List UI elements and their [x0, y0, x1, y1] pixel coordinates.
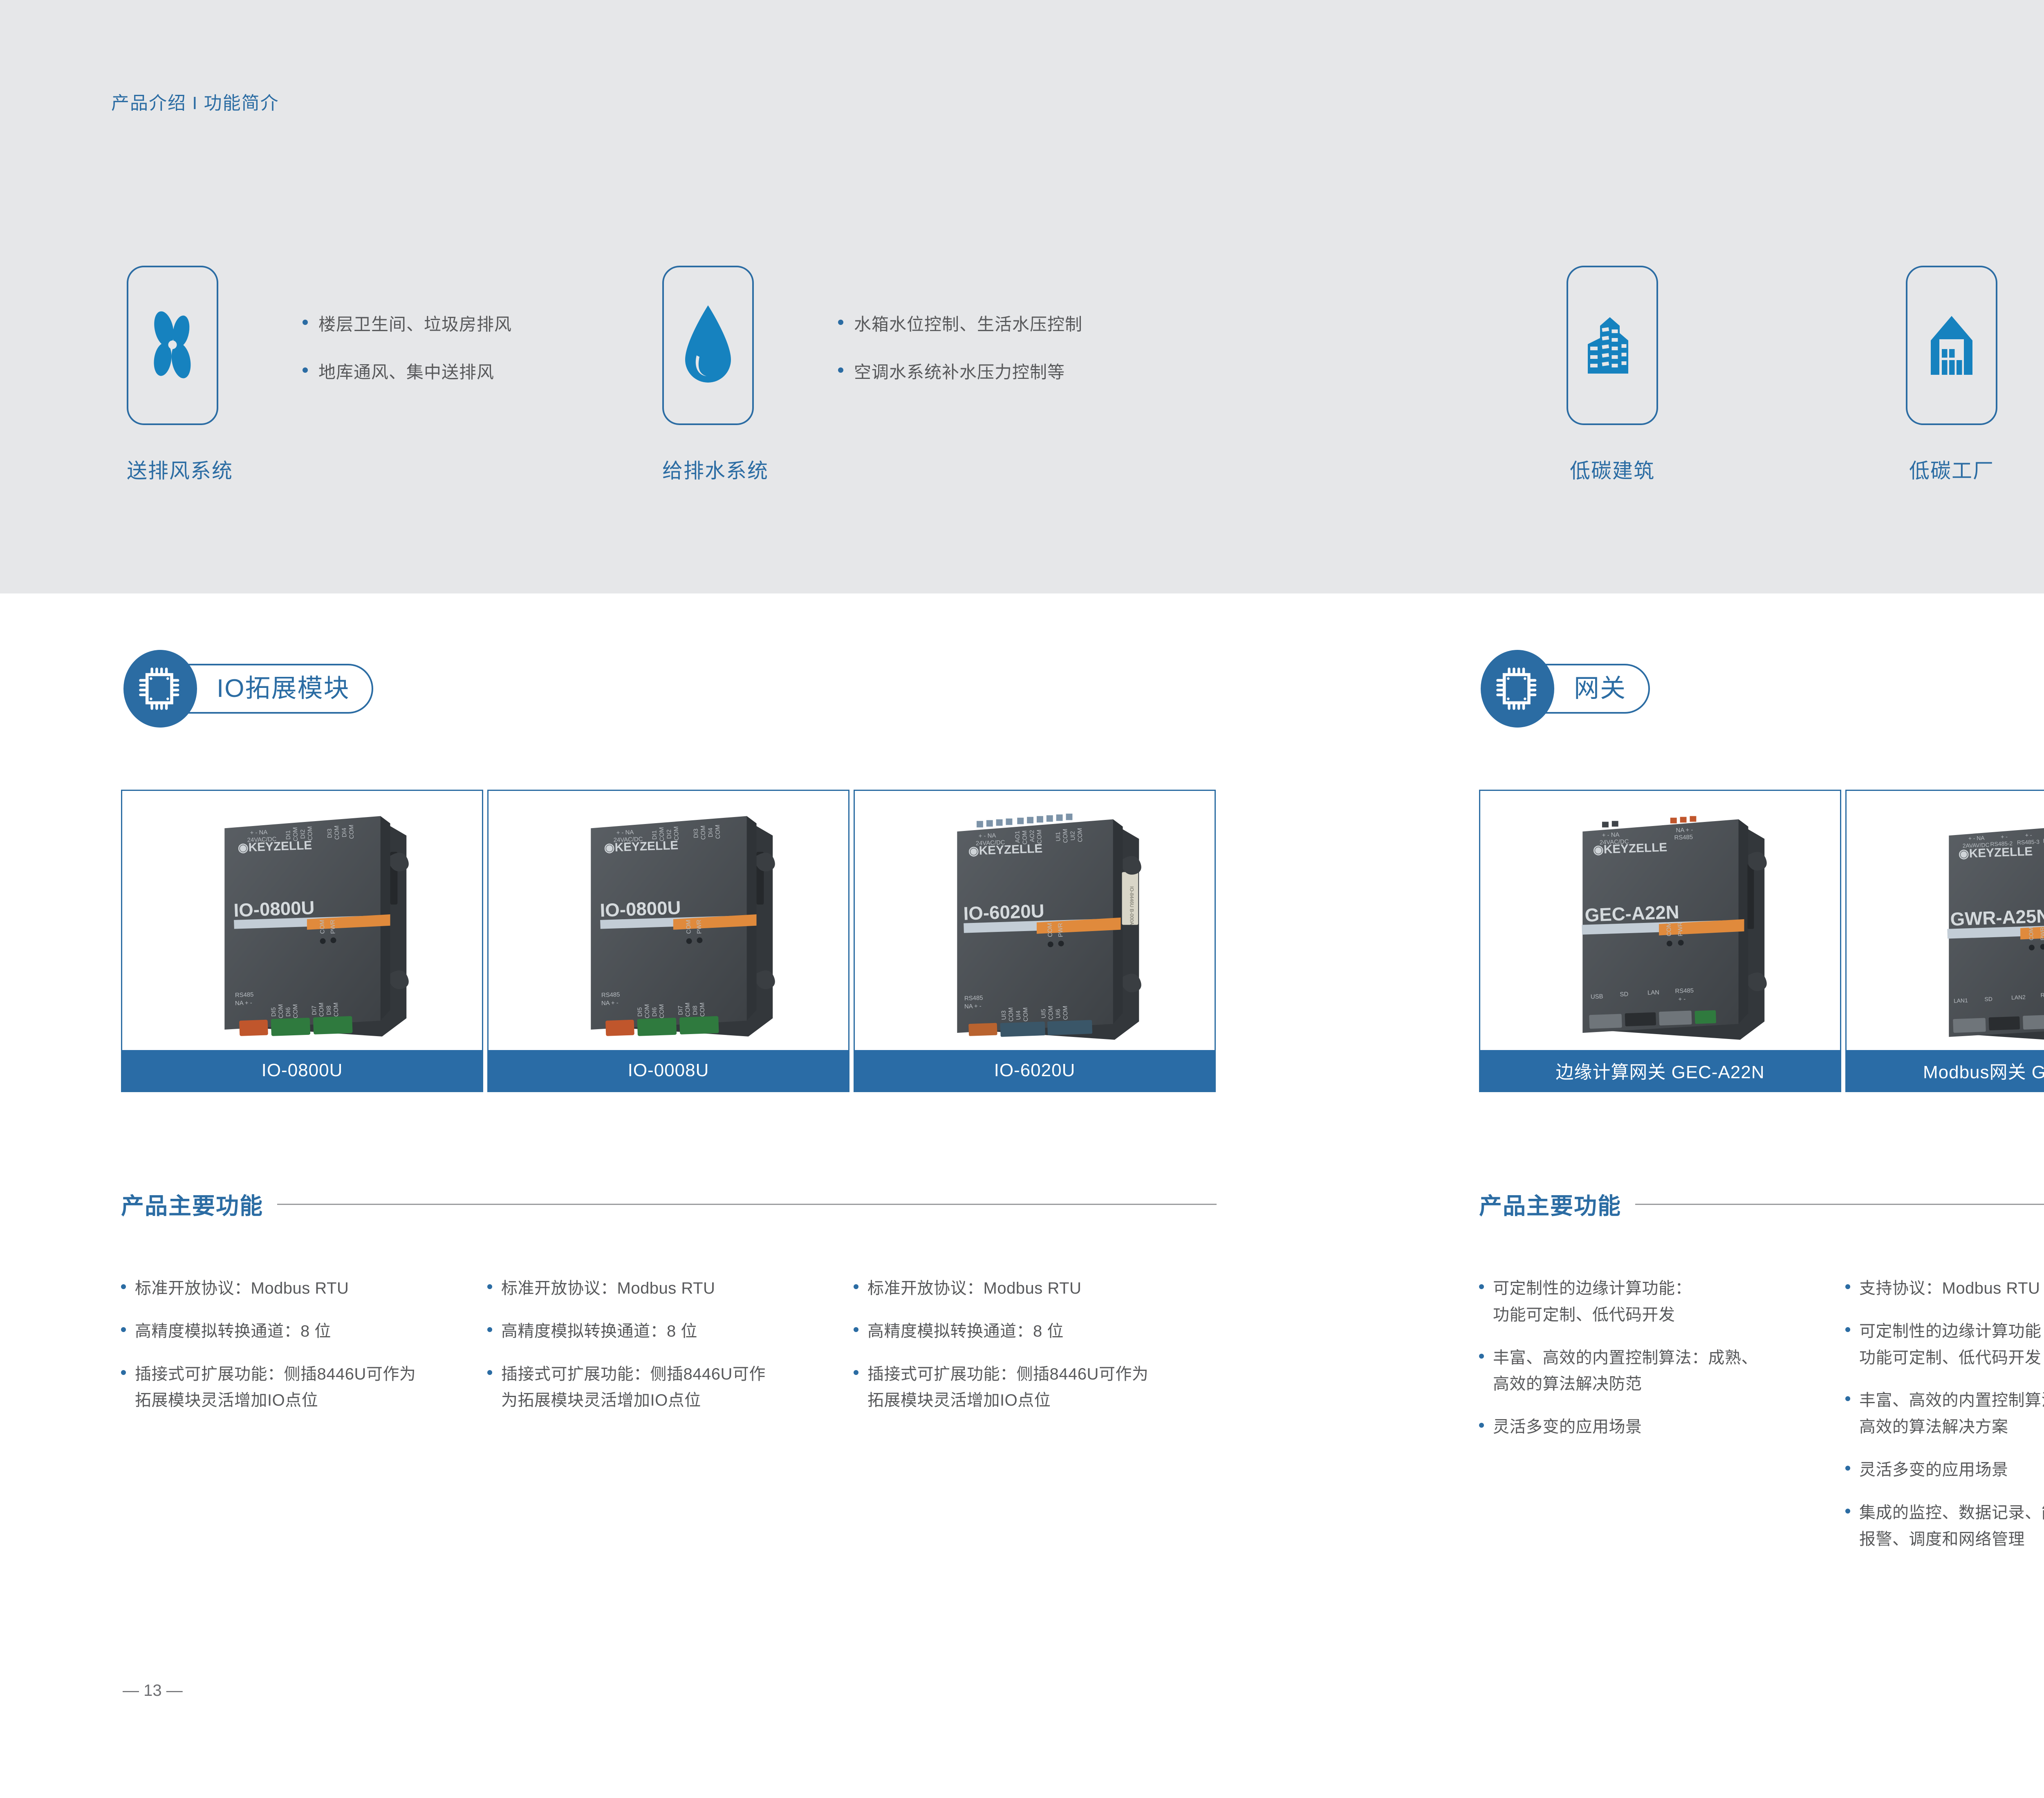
bullet-dot: [121, 1327, 126, 1332]
svg-text:COM: COM: [1036, 829, 1043, 844]
application-card-caption: 送排风系统: [127, 455, 233, 484]
svg-text:DI7: DI7: [311, 1005, 318, 1015]
svg-text:RS485: RS485: [1675, 987, 1694, 995]
svg-text:NA + -: NA + -: [1676, 827, 1693, 834]
svg-text:IO-8446U B-000A: IO-8446U B-000A: [1129, 886, 1134, 925]
feature-text: 高精度模拟转换通道：8 位: [135, 1318, 331, 1345]
top-gray-band: [0, 0, 2044, 593]
feature-text: 集成的监控、数据记录、能耗计量、 报警、调度和网络管理: [1859, 1500, 2044, 1553]
factory-icon-frame: [1906, 266, 1997, 425]
product-photo: IO-0800U ◉KEYZELLE + - NA 24VAC/DC DI1 C…: [489, 791, 848, 1091]
svg-text:DI6: DI6: [285, 1007, 292, 1017]
section-title-io-modules: IO拓展模块: [123, 650, 373, 728]
svg-text:+ - NA: + - NA: [1968, 835, 1985, 842]
svg-text:COM: COM: [1022, 830, 1029, 844]
svg-text:RS485: RS485: [601, 992, 620, 999]
svg-text:AO2: AO2: [1029, 830, 1036, 842]
product-name: IO-6020U: [994, 1060, 1076, 1081]
svg-text:24VAC/DC: 24VAC/DC: [976, 840, 1005, 847]
feature-text: 可定制性的边缘计算功能： 功能可定制、低代码开发: [1493, 1275, 1692, 1328]
device-illustration-gwr-a25n: GWR-A25N ◉KEYZELLE + - NA + - + - + - + …: [1847, 791, 2044, 1091]
bullet-dot: [854, 1284, 858, 1289]
features-heading-right: 产品主要功能: [1479, 1188, 2044, 1221]
water-bullets: 水箱水位控制、生活水压控制 空调水系统补水压力控制等: [838, 311, 1083, 406]
svg-text:RS485-2: RS485-2: [1990, 840, 2013, 847]
bullet-text: 空调水系统补水压力控制等: [854, 358, 1065, 383]
feature-text: 插接式可扩展功能：侧插8446U可作 为拓展模块灵活增加IO点位: [501, 1361, 766, 1414]
svg-text:NA + -: NA + -: [964, 1003, 982, 1010]
office-buildings-icon: [1582, 305, 1643, 386]
svg-text:COM: COM: [659, 827, 666, 841]
feature-item: 标准开放协议：Modbus RTU: [854, 1275, 1197, 1302]
bullet-dot: [1845, 1284, 1850, 1289]
svg-text:DI5: DI5: [271, 1007, 278, 1017]
device-illustration-io-0800u: IO-0800U ◉KEYZELLE + - NA 24VAC/DC DI1 C…: [122, 791, 482, 1091]
svg-text:2AVAV/DC: 2AVAV/DC: [1963, 842, 1990, 849]
svg-text:SD: SD: [1984, 996, 1992, 1003]
svg-text:DI8: DI8: [326, 1005, 333, 1015]
fan-icon: [142, 305, 203, 386]
feature-item: 标准开放协议：Modbus RTU: [121, 1275, 464, 1302]
svg-text:RS485-3: RS485-3: [2017, 838, 2040, 846]
svg-text:COM: COM: [700, 825, 707, 840]
svg-text:COM: COM: [292, 827, 299, 841]
product-name: IO-0800U: [262, 1060, 343, 1081]
chip-icon: [1495, 666, 1540, 712]
application-card-ventilation: 送排风系统: [127, 266, 233, 484]
product-name: IO-0008U: [628, 1060, 709, 1081]
bullet-text: 楼层卫生间、垃圾房排风: [318, 311, 512, 336]
svg-text:DI4: DI4: [341, 828, 348, 837]
application-card-caption: 给排水系统: [662, 455, 769, 484]
svg-text:COM: COM: [278, 1004, 285, 1018]
product-name: Modbus网关 GWR-A25N: [1923, 1057, 2044, 1084]
device-illustration-gec-a22n: GEC-A22N ◉KEYZELLE + - NA 24VAC/DC NA + …: [1480, 791, 1840, 1091]
features-heading-text: 产品主要功能: [1479, 1188, 1621, 1221]
svg-text:PWR: PWR: [329, 920, 336, 934]
water-drop-icon: [679, 302, 737, 388]
feature-item: 可定制性的边缘计算功能： 功能可定制、低代码开发: [1845, 1318, 2044, 1371]
svg-text:+ -: + -: [2001, 833, 2008, 840]
bullet-dot: [1479, 1423, 1484, 1428]
bullet-dot: [1479, 1284, 1484, 1289]
bullet-dot: [1845, 1396, 1850, 1401]
svg-text:LAN: LAN: [1647, 990, 1659, 996]
feature-text: 插接式可扩展功能：侧插8446U可作为 拓展模块灵活增加IO点位: [135, 1361, 416, 1414]
features-heading-left: 产品主要功能: [121, 1188, 1217, 1221]
product-name: 边缘计算网关 GEC-A22N: [1555, 1057, 1764, 1084]
svg-text:COM: COM: [699, 1002, 706, 1017]
scene-card-low-carbon-building: 低碳建筑: [1567, 266, 1658, 484]
scene-card-caption: 低碳建筑: [1567, 455, 1658, 484]
feature-item: 标准开放协议：Modbus RTU: [487, 1275, 831, 1302]
svg-text:AO1: AO1: [1014, 831, 1021, 843]
bullet-dot: [1845, 1509, 1850, 1514]
bullet-item: 空调水系统补水压力控制等: [838, 358, 1083, 383]
svg-text:COM: COM: [1022, 1007, 1029, 1021]
ventilation-bullets: 楼层卫生间、垃圾房排风 地库通风、集中送排风: [303, 311, 512, 406]
svg-text:UI4: UI4: [1015, 1010, 1022, 1020]
svg-text:COM: COM: [644, 1004, 651, 1018]
chip-icon: [138, 666, 182, 712]
svg-text:DI6: DI6: [651, 1007, 658, 1017]
bullet-text: 地库通风、集中送排风: [318, 358, 494, 383]
svg-text:COM: COM: [685, 920, 692, 934]
svg-text:COM: COM: [1008, 1007, 1015, 1021]
svg-text:COM: COM: [334, 825, 341, 840]
bullet-dot: [1845, 1327, 1850, 1332]
fan-icon-frame: [127, 266, 218, 425]
svg-text:DI3: DI3: [327, 828, 334, 838]
feature-column: 标准开放协议：Modbus RTU 高精度模拟转换通道：8 位 插接式可扩展功能…: [121, 1275, 464, 1430]
bullet-dot: [1479, 1354, 1484, 1359]
bullet-dot: [487, 1370, 492, 1375]
bullet-dot: [838, 320, 843, 325]
feature-text: 标准开放协议：Modbus RTU: [867, 1275, 1081, 1302]
bullet-text: 水箱水位控制、生活水压控制: [854, 311, 1083, 336]
svg-text:RS485: RS485: [235, 992, 254, 999]
svg-text:USB: USB: [1591, 993, 1603, 1000]
device-illustration-io-6020u: IO-8446U B-000A IO-6020U ◉KEYZELLE + - N…: [855, 791, 1215, 1091]
svg-text:+ - NA: + - NA: [250, 829, 267, 836]
section-title-text: IO拓展模块: [217, 676, 350, 701]
page-root: 产品介绍 I 功能简介 产品介绍 I 功能简介 送排风系统 楼层卫生间、垃圾房排…: [0, 0, 2044, 1798]
bullet-dot: [121, 1370, 126, 1375]
svg-text:COM: COM: [292, 1004, 299, 1018]
scene-card-low-carbon-factory: 低碳工厂: [1906, 266, 1997, 484]
bullet-dot: [854, 1327, 858, 1332]
bullet-dot: [487, 1284, 492, 1289]
chip-icon-badge: [1481, 650, 1554, 728]
svg-text:24VAC/DC: 24VAC/DC: [1600, 839, 1629, 846]
svg-text:PWR: PWR: [696, 920, 703, 934]
svg-text:COM: COM: [307, 826, 314, 840]
svg-text:COM: COM: [1062, 828, 1069, 843]
svg-text:DI1: DI1: [651, 830, 658, 840]
device-model-label: GWR-A25N: [1950, 905, 2044, 929]
svg-text:COM: COM: [1666, 922, 1673, 936]
svg-text:UI1: UI1: [1055, 832, 1062, 842]
svg-text:COM: COM: [684, 1002, 691, 1017]
bullet-dot: [303, 320, 308, 325]
svg-text:+ - NA: + - NA: [1602, 832, 1620, 839]
svg-text:DI5: DI5: [637, 1007, 644, 1017]
feature-item: 高精度模拟转换通道：8 位: [121, 1318, 464, 1345]
section-title-text: 网关: [1574, 676, 1626, 701]
svg-text:COM: COM: [333, 1002, 340, 1017]
product-card[interactable]: IO-8446U B-000A IO-6020U ◉KEYZELLE + - N…: [854, 790, 1216, 1092]
svg-text:RS485: RS485: [1674, 834, 1693, 842]
heading-rule: [1635, 1204, 2044, 1205]
feature-text: 高精度模拟转换通道：8 位: [867, 1318, 1064, 1345]
svg-text:RS485-1: RS485-1: [2040, 991, 2044, 999]
chip-icon-badge: [123, 650, 197, 728]
svg-text:DI2: DI2: [300, 829, 307, 839]
product-name-bar: Modbus网关 GWR-A25N: [1847, 1050, 2044, 1091]
bullet-item: 水箱水位控制、生活水压控制: [838, 311, 1083, 336]
feature-text: 标准开放协议：Modbus RTU: [135, 1275, 349, 1302]
bullet-dot: [121, 1284, 126, 1289]
office-buildings-icon-frame: [1567, 266, 1658, 425]
svg-text:LAN1: LAN1: [1954, 997, 1968, 1004]
svg-text:DI2: DI2: [666, 829, 673, 839]
feature-text: 灵活多变的应用场景: [1859, 1457, 2008, 1483]
svg-text:NA + -: NA + -: [601, 1000, 619, 1007]
feature-text: 支持协议：Modbus RTU: [1859, 1275, 2040, 1302]
product-card[interactable]: IO-0800U ◉KEYZELLE + - NA 24VAC/DC DI1 C…: [121, 790, 483, 1092]
svg-text:+ -: + -: [1678, 996, 1685, 1003]
feature-item: 插接式可扩展功能：侧插8446U可作 为拓展模块灵活增加IO点位: [487, 1361, 831, 1414]
bullet-dot: [487, 1327, 492, 1332]
feature-column: 可定制性的边缘计算功能： 功能可定制、低代码开发 丰富、高效的内置控制算法：成熟…: [1479, 1275, 1822, 1457]
product-name-bar: 边缘计算网关 GEC-A22N: [1480, 1050, 1840, 1091]
feature-column: 标准开放协议：Modbus RTU 高精度模拟转换通道：8 位 插接式可扩展功能…: [854, 1275, 1197, 1430]
bullet-dot: [1845, 1466, 1850, 1471]
svg-text:DI3: DI3: [693, 828, 700, 838]
svg-text:COM: COM: [715, 824, 722, 839]
section-title-gateways: 网关: [1481, 650, 1650, 728]
svg-text:PWR: PWR: [1677, 922, 1684, 936]
svg-text:COM: COM: [2028, 927, 2035, 940]
feature-item: 集成的监控、数据记录、能耗计量、 报警、调度和网络管理: [1845, 1500, 2044, 1553]
svg-text:24VAC/DC: 24VAC/DC: [613, 836, 643, 844]
product-card[interactable]: GWR-A25N ◉KEYZELLE + - NA + - + - + - + …: [1845, 790, 2044, 1092]
svg-text:+ - NA: + - NA: [616, 829, 634, 836]
svg-text:COM: COM: [1077, 828, 1084, 842]
svg-text:PWR: PWR: [2039, 927, 2044, 940]
factory-icon: [1921, 305, 1982, 386]
product-name-bar: IO-6020U: [855, 1050, 1215, 1091]
bullet-dot: [303, 367, 308, 373]
bullet-dot: [838, 367, 843, 373]
svg-text:COM: COM: [1062, 1005, 1069, 1020]
svg-text:+ - NA: + - NA: [979, 833, 996, 840]
device-model-label: IO-0800U: [233, 897, 315, 921]
bullet-item: 地库通风、集中送排风: [303, 358, 512, 383]
product-card[interactable]: GEC-A22N ◉KEYZELLE + - NA 24VAC/DC NA + …: [1479, 790, 1841, 1092]
svg-text:COM: COM: [1047, 923, 1053, 937]
product-photo: GWR-A25N ◉KEYZELLE + - NA + - + - + - + …: [1847, 791, 2044, 1091]
svg-text:LAN2: LAN2: [2011, 994, 2026, 1001]
product-name-bar: IO-0008U: [489, 1050, 848, 1091]
product-photo: IO-0800U ◉KEYZELLE + - NA 24VAC/DC DI1 C…: [122, 791, 482, 1091]
feature-item: 插接式可扩展功能：侧插8446U可作为 拓展模块灵活增加IO点位: [121, 1361, 464, 1414]
feature-item: 丰富、高效的内置控制算法：成熟、 高效的算法解决方案: [1845, 1387, 2044, 1440]
svg-text:UI6: UI6: [1055, 1009, 1062, 1019]
svg-text:DI1: DI1: [285, 830, 292, 840]
svg-text:DI8: DI8: [692, 1005, 699, 1015]
feature-item: 灵活多变的应用场景: [1479, 1414, 1822, 1440]
svg-text:SD: SD: [1620, 991, 1628, 998]
device-model-label: IO-0800U: [600, 897, 681, 921]
page-number-left: — 13 —: [123, 1682, 183, 1700]
svg-text:UI2: UI2: [1070, 831, 1077, 841]
feature-text: 高精度模拟转换通道：8 位: [501, 1318, 697, 1345]
svg-text:COM: COM: [318, 1002, 325, 1017]
device-model-label: IO-6020U: [963, 900, 1045, 924]
feature-column: 支持协议：Modbus RTU 可定制性的边缘计算功能： 功能可定制、低代码开发…: [1845, 1275, 2044, 1569]
svg-text:COM: COM: [319, 920, 326, 934]
feature-item: 插接式可扩展功能：侧插8446U可作为 拓展模块灵活增加IO点位: [854, 1361, 1197, 1414]
product-photo: GEC-A22N ◉KEYZELLE + - NA 24VAC/DC NA + …: [1480, 791, 1840, 1091]
heading-rule: [277, 1204, 1217, 1205]
feature-item: 高精度模拟转换通道：8 位: [854, 1318, 1197, 1345]
feature-item: 高精度模拟转换通道：8 位: [487, 1318, 831, 1345]
svg-text:COM: COM: [1047, 1005, 1054, 1020]
feature-text: 标准开放协议：Modbus RTU: [501, 1275, 715, 1302]
device-model-label: GEC-A22N: [1585, 902, 1680, 926]
scene-card-caption: 低碳工厂: [1906, 455, 1997, 484]
feature-text: 丰富、高效的内置控制算法：成熟、 高效的算法解决防范: [1493, 1345, 1758, 1398]
svg-text:UI5: UI5: [1040, 1009, 1047, 1019]
water-drop-icon-frame: [662, 266, 754, 425]
bullet-dot: [854, 1370, 858, 1375]
product-name-bar: IO-0800U: [122, 1050, 482, 1091]
svg-text:DI4: DI4: [707, 828, 714, 837]
svg-text:24VAC/DC: 24VAC/DC: [247, 836, 276, 844]
feature-column: 标准开放协议：Modbus RTU 高精度模拟转换通道：8 位 插接式可扩展功能…: [487, 1275, 831, 1430]
svg-text:+ -: + -: [2025, 832, 2033, 839]
running-head-left: 产品介绍 I 功能简介: [111, 88, 279, 114]
bullet-item: 楼层卫生间、垃圾房排风: [303, 311, 512, 336]
svg-text:UI3: UI3: [1001, 1010, 1008, 1020]
feature-item: 丰富、高效的内置控制算法：成熟、 高效的算法解决防范: [1479, 1345, 1822, 1398]
svg-text:COM: COM: [673, 826, 680, 840]
device-illustration-io-0008u: IO-0800U ◉KEYZELLE + - NA 24VAC/DC DI1 C…: [489, 791, 848, 1091]
product-card[interactable]: IO-0800U ◉KEYZELLE + - NA 24VAC/DC DI1 C…: [487, 790, 849, 1092]
application-card-water: 给排水系统: [662, 266, 769, 484]
feature-text: 灵活多变的应用场景: [1493, 1414, 1642, 1440]
product-photo: IO-8446U B-000A IO-6020U ◉KEYZELLE + - N…: [855, 791, 1215, 1091]
feature-item: 支持协议：Modbus RTU: [1845, 1275, 2044, 1302]
feature-item: 可定制性的边缘计算功能： 功能可定制、低代码开发: [1479, 1275, 1822, 1328]
features-heading-text: 产品主要功能: [121, 1188, 263, 1221]
svg-text:DI7: DI7: [677, 1005, 684, 1015]
svg-text:COM: COM: [348, 824, 355, 839]
feature-text: 丰富、高效的内置控制算法：成熟、 高效的算法解决方案: [1859, 1387, 2044, 1440]
svg-text:NA + -: NA + -: [235, 1000, 252, 1007]
feature-text: 可定制性的边缘计算功能： 功能可定制、低代码开发: [1859, 1318, 2044, 1371]
svg-text:PWR: PWR: [1057, 923, 1064, 937]
svg-text:COM: COM: [659, 1004, 666, 1018]
svg-text:RS485: RS485: [964, 995, 983, 1002]
feature-text: 插接式可扩展功能：侧插8446U可作为 拓展模块灵活增加IO点位: [867, 1361, 1148, 1414]
feature-item: 灵活多变的应用场景: [1845, 1457, 2044, 1483]
